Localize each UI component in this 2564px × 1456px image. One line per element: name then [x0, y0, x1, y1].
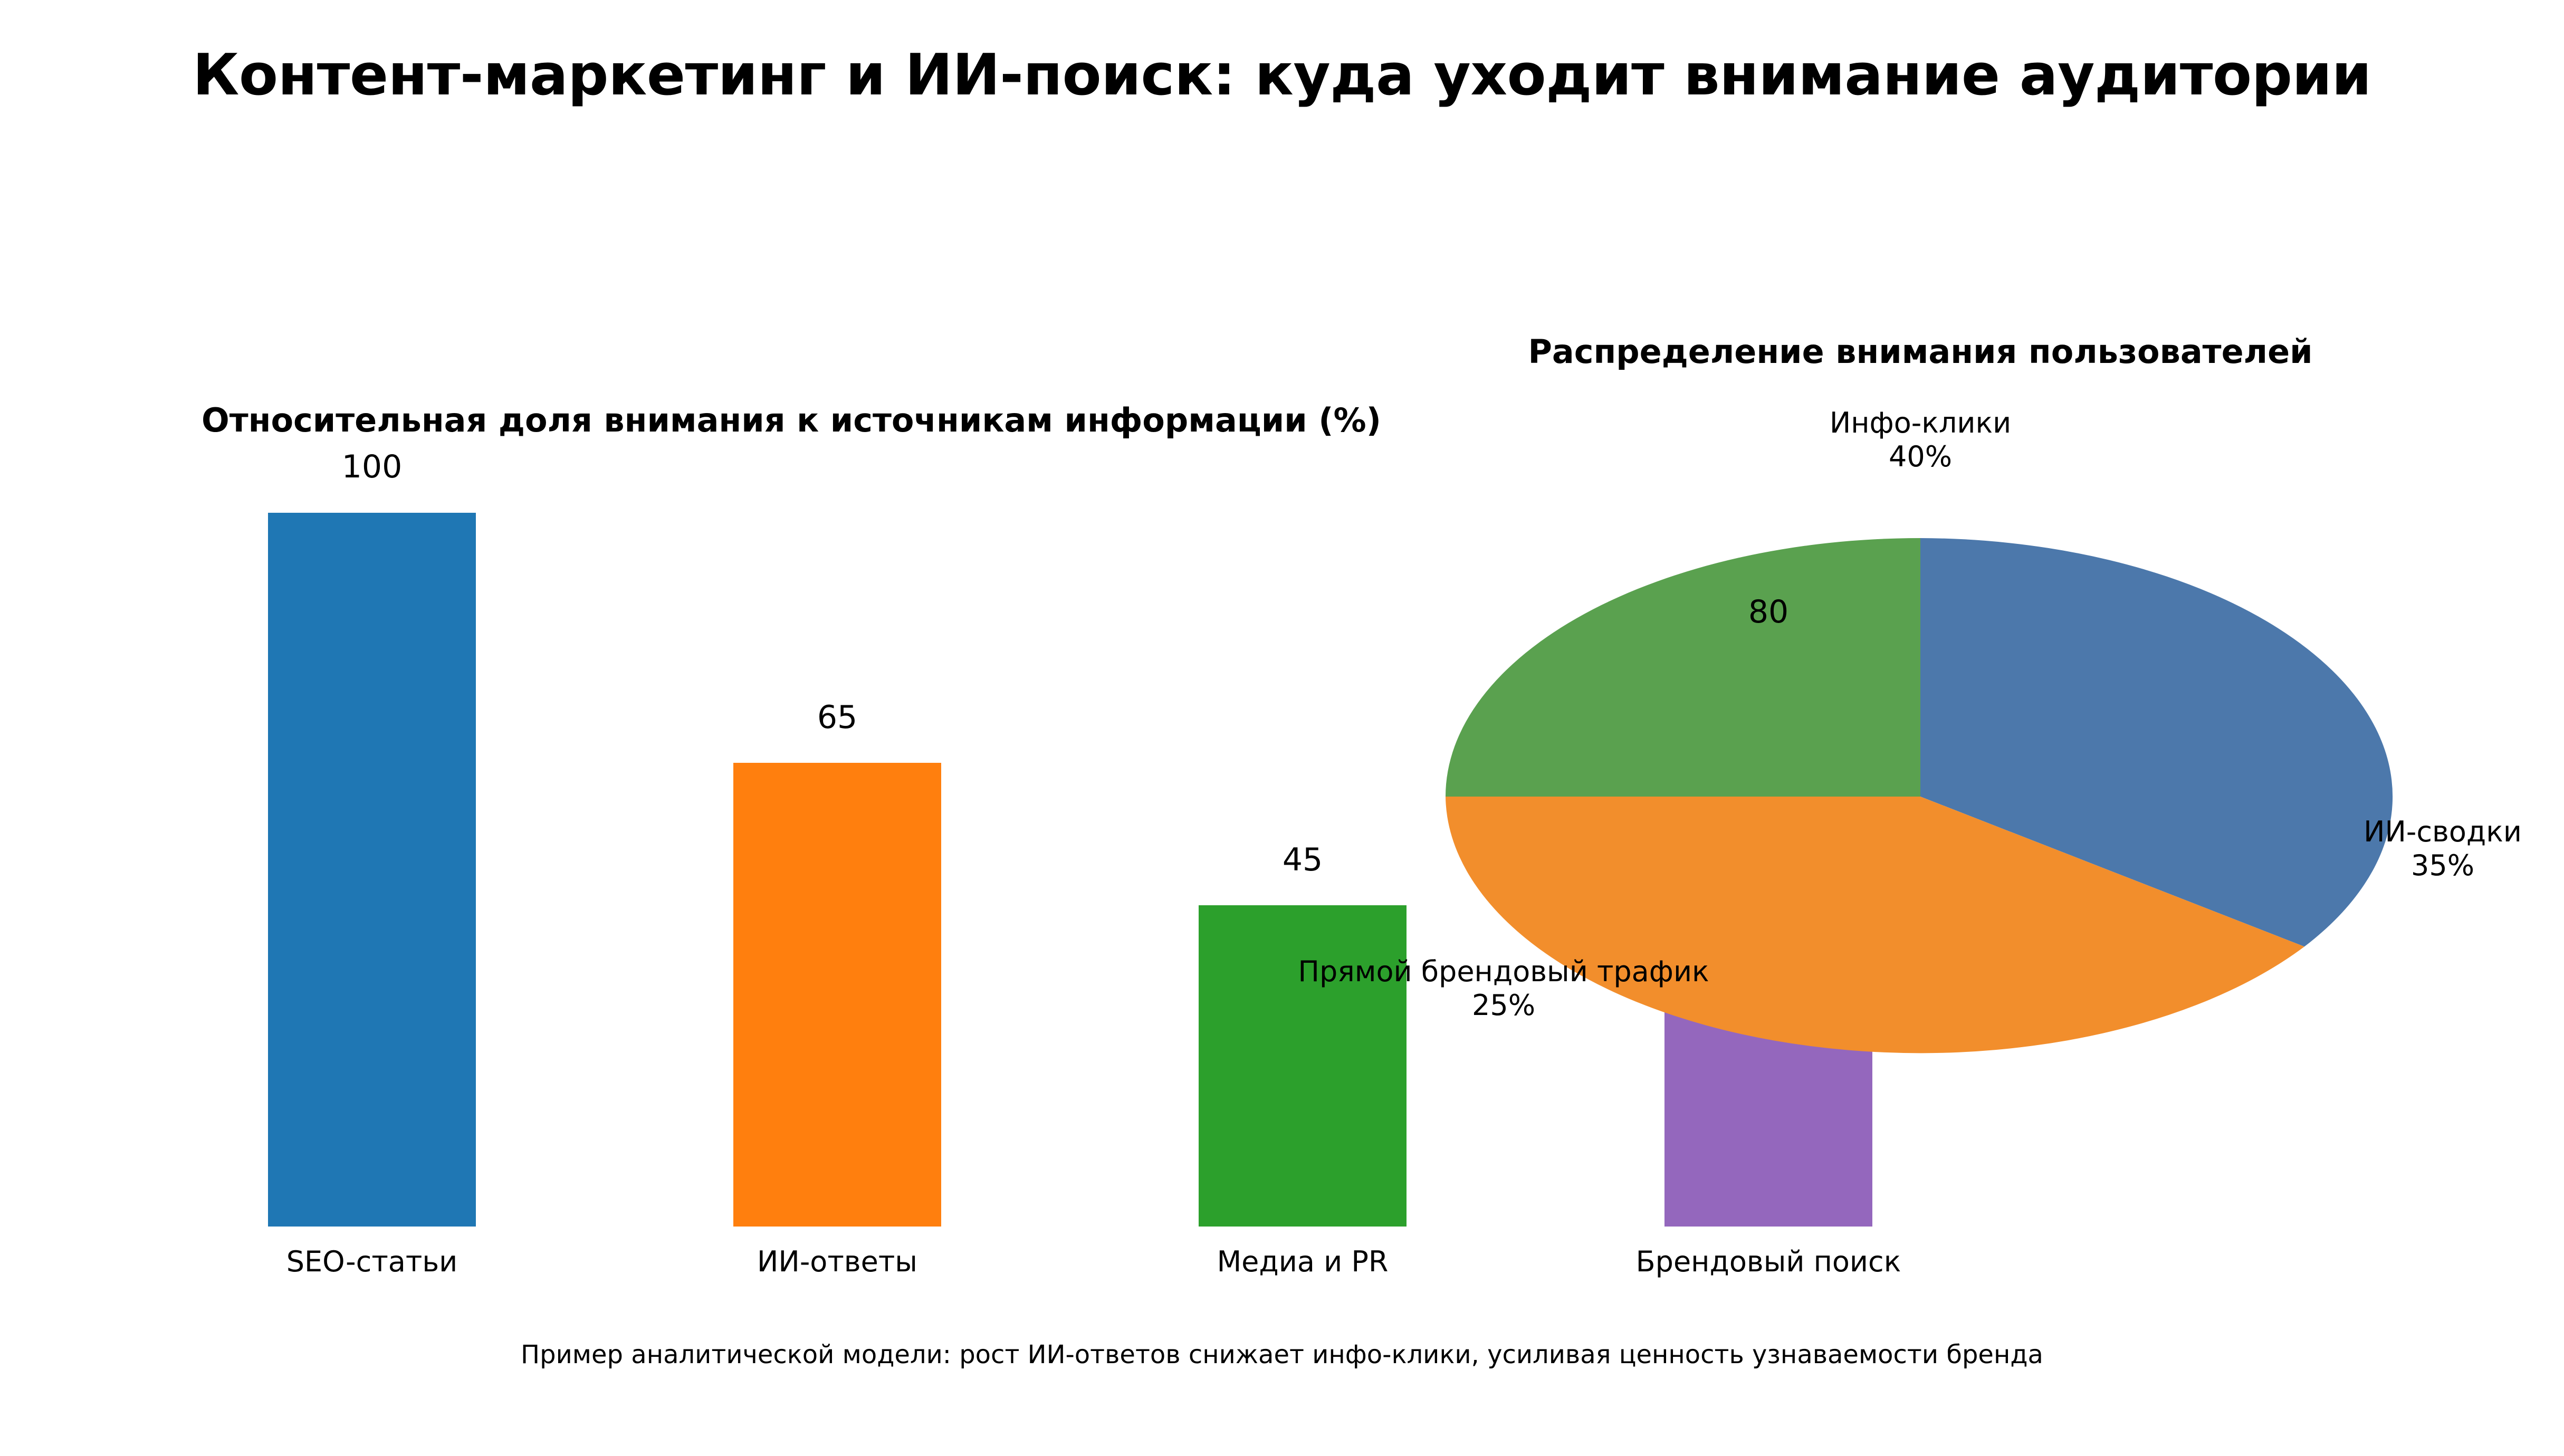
bar-media-i-pr[interactable] [1199, 905, 1407, 1227]
pie-label-pryamoy-brendovyy-trafik-name: Прямой брендовый трафик [1298, 955, 1709, 988]
bar-value-ii-otvety: 65 [733, 702, 941, 733]
bar-ii-otvety[interactable] [733, 763, 941, 1227]
footer-note: Пример аналитической модели: рост ИИ-отв… [0, 1340, 2564, 1369]
pie-slice-info-kliki[interactable] [1446, 538, 1920, 797]
bar-chart-title: Относительная доля внимания к источникам… [185, 401, 1398, 439]
bar-category-media-i-pr: Медиа и PR [1172, 1245, 1433, 1278]
bar-seo-statyi[interactable] [268, 513, 476, 1227]
bar-value-media-i-pr: 45 [1199, 844, 1407, 876]
pie-label-info-kliki-name: Инфо-клики [1830, 406, 2011, 439]
bar-category-seo-statyi: SEO-статьи [242, 1245, 502, 1278]
pie-chart-title: Распределение внимания пользователей [1446, 332, 2395, 371]
pie-label-info-kliki-percent: 40% [1889, 440, 1952, 473]
pie-label-ii-svodki-percent: 35% [2411, 849, 2474, 882]
slide-canvas: Контент-маркетинг и ИИ-поиск: куда уходи… [0, 0, 2564, 1456]
pie-label-pryamoy-brendovyy-trafik: Прямой брендовый трафик25% [1271, 955, 1736, 1022]
bar-category-brendovyy-poisk: Брендовый поиск [1612, 1245, 1925, 1278]
bar-value-brendovyy-poisk: 80 [1664, 596, 1872, 628]
pie-label-pryamoy-brendovyy-trafik-percent: 25% [1472, 989, 1535, 1022]
pie-label-ii-svodki: ИИ-сводки35% [2327, 815, 2559, 882]
pie-label-info-kliki: Инфо-клики40% [1446, 406, 2395, 473]
pie-label-ii-svodki-name: ИИ-сводки [2364, 815, 2522, 848]
bar-category-ii-otvety: ИИ-ответы [707, 1245, 968, 1278]
bar-value-seo-statyi: 100 [268, 451, 476, 483]
page-title: Контент-маркетинг и ИИ-поиск: куда уходи… [0, 42, 2564, 108]
